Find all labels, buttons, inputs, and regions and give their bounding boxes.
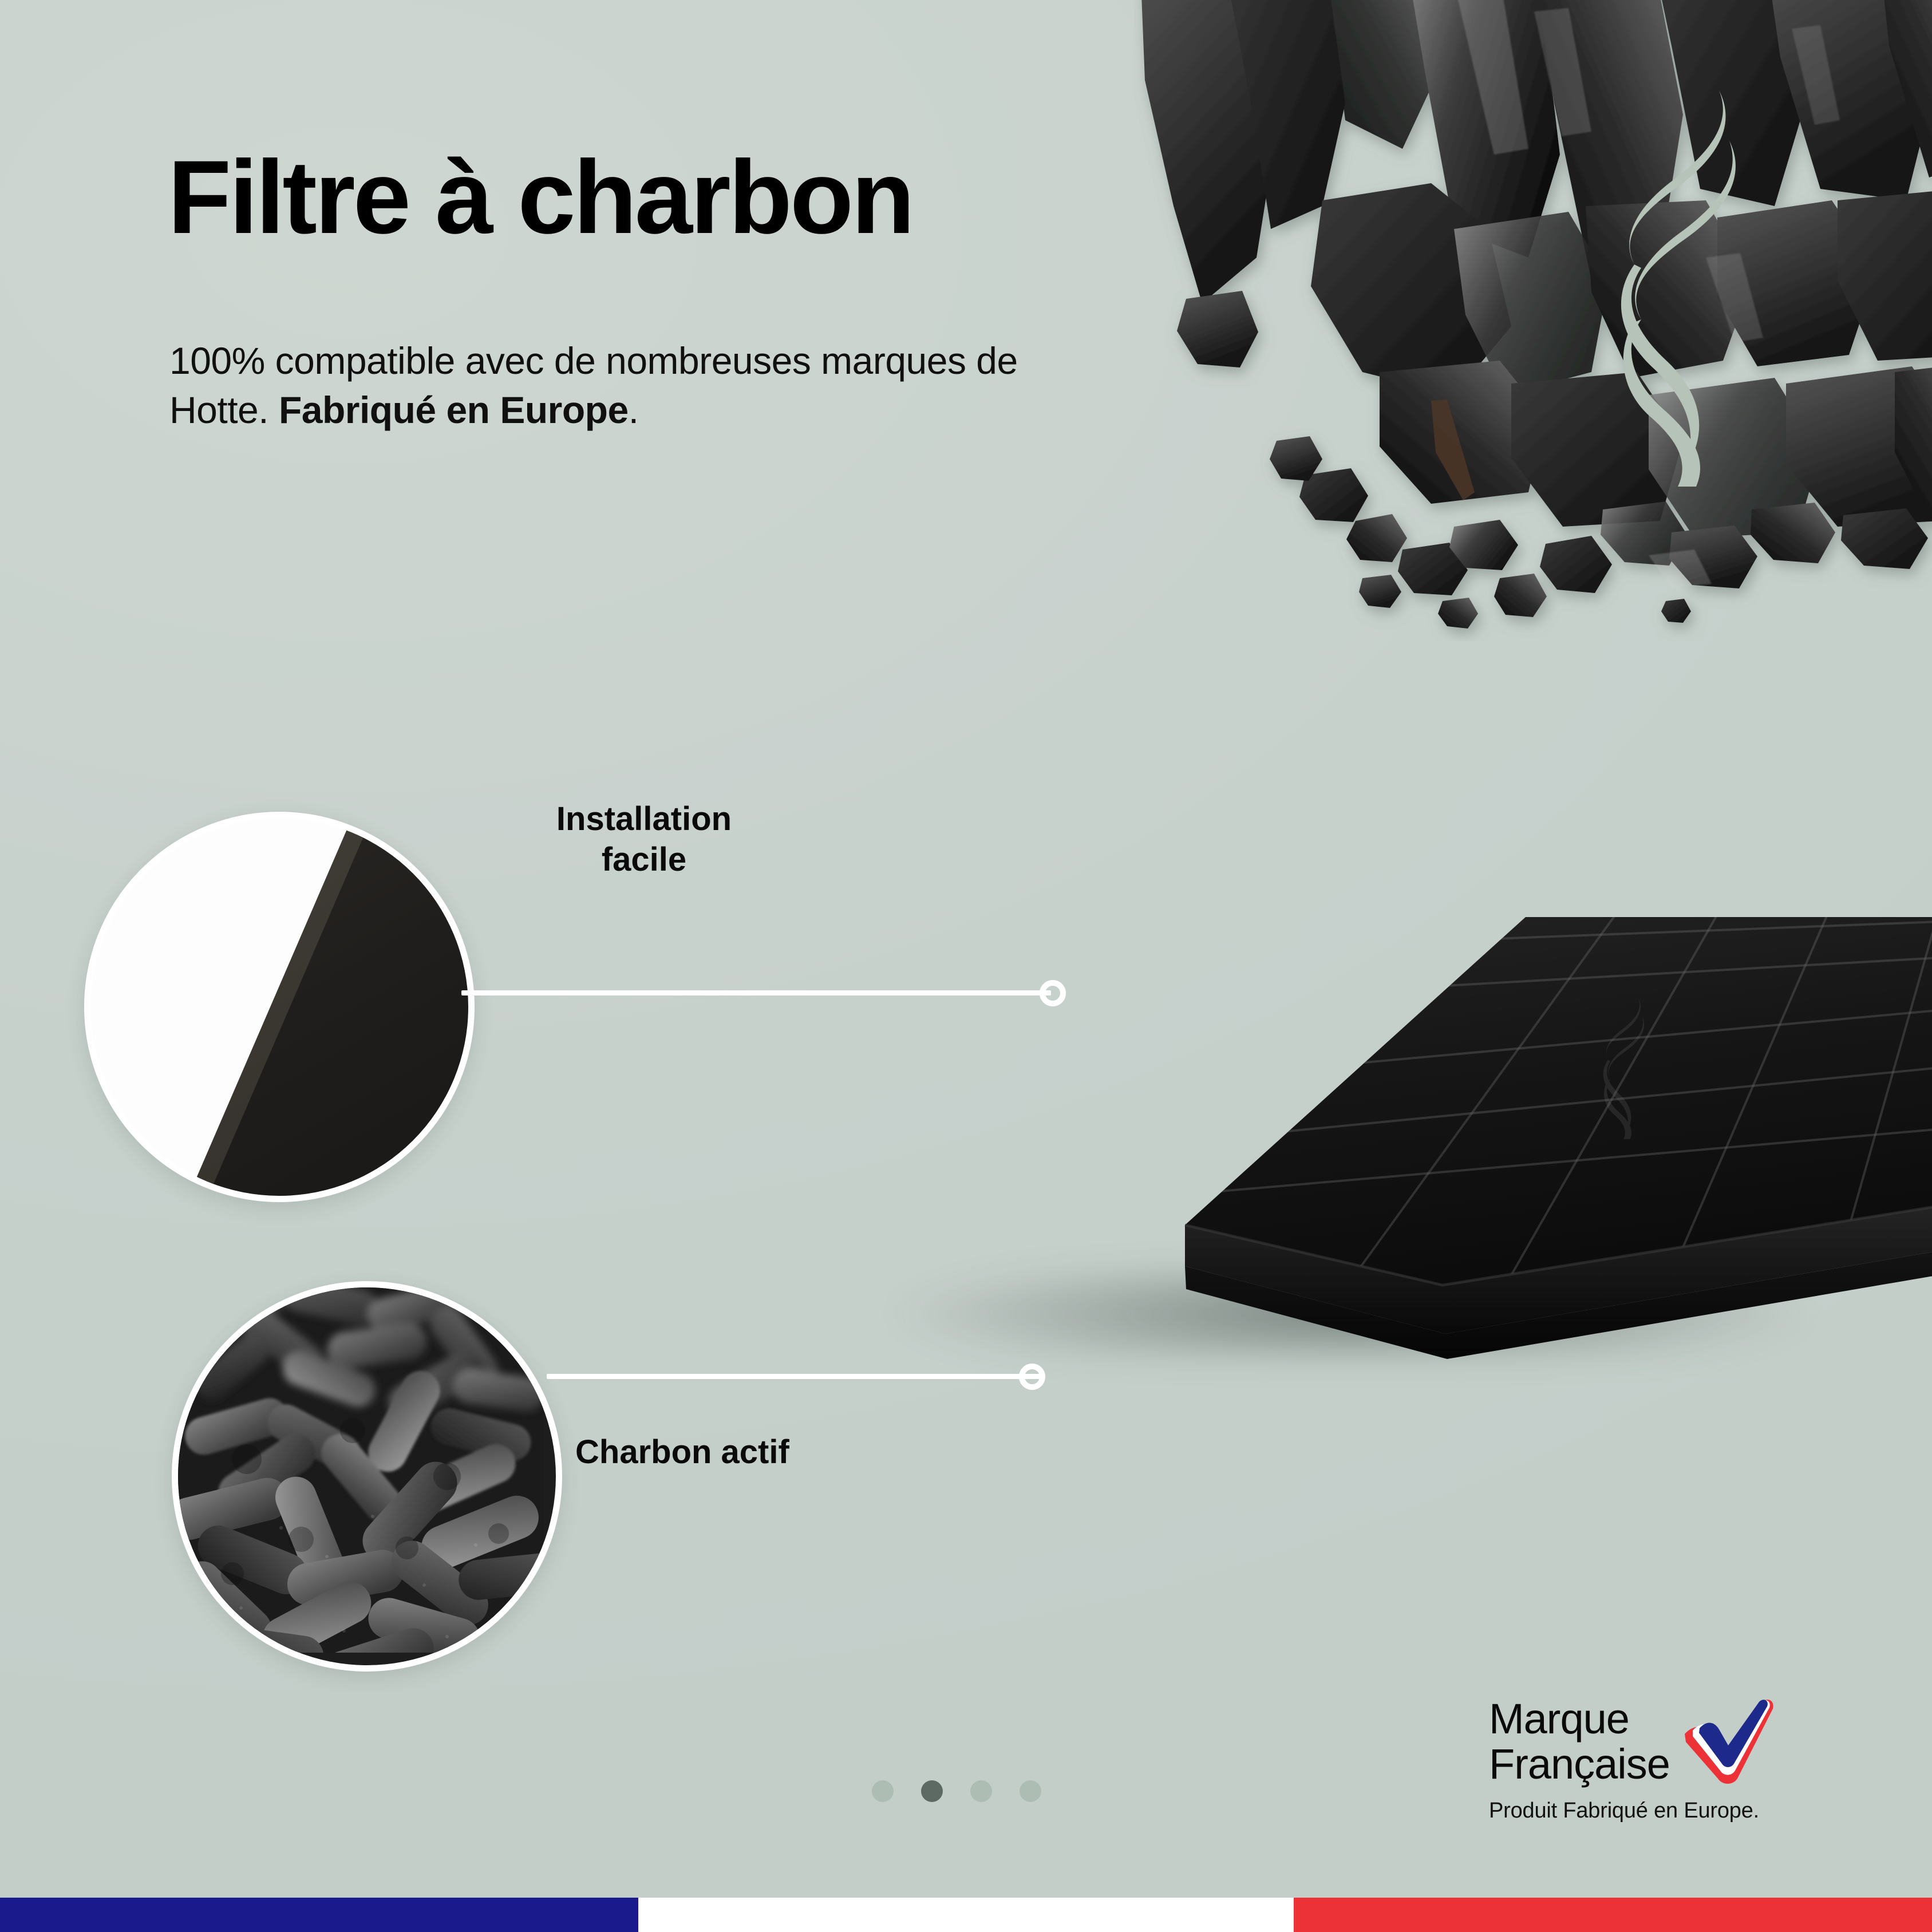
callout-leader-line-1 <box>461 990 1051 995</box>
callout-label-charbon-actif: Charbon actif <box>575 1432 789 1472</box>
page-subtitle: 100% compatible avec de nombreuses marqu… <box>169 337 1028 435</box>
subtitle-text-2: . <box>629 389 639 431</box>
callout-endpoint-ring-2 <box>1019 1364 1045 1390</box>
carousel-dot-2[interactable] <box>921 1780 943 1802</box>
carbon-filter-panel-image <box>790 767 1932 1443</box>
subtitle-emphasis: Fabriqué en Europe <box>279 389 629 431</box>
badge-title: Marque Française <box>1489 1697 1670 1787</box>
callout-image-installation <box>84 812 475 1202</box>
callout-label-installation-line2: facile <box>484 840 804 880</box>
callout-endpoint-ring-1 <box>1040 980 1066 1006</box>
callout-leader-line-2 <box>547 1374 1045 1379</box>
callout-image-charbon-actif <box>172 1281 562 1672</box>
product-marketing-slide: Filtre à charbon 100% compatible avec de… <box>0 0 1932 1932</box>
tricolor-check-icon <box>1680 1698 1776 1788</box>
callout-label-installation: Installation facile <box>484 799 804 880</box>
tricolor-red-stripe <box>1294 1898 1932 1932</box>
page-title: Filtre à charbon <box>168 144 1255 251</box>
marque-francaise-badge: Marque Française Produit Fabriqué en Eur… <box>1489 1695 1776 1823</box>
footer-tricolor-bar <box>0 1898 1932 1932</box>
carousel-dot-3[interactable] <box>970 1780 992 1802</box>
carousel-dot-1[interactable] <box>872 1780 894 1802</box>
carousel-dot-4[interactable] <box>1020 1780 1041 1802</box>
callout-label-installation-line1: Installation <box>484 799 804 840</box>
tricolor-white-stripe <box>638 1898 1294 1932</box>
badge-subtitle: Produit Fabriqué en Europe. <box>1489 1799 1776 1823</box>
badge-title-line2: Française <box>1489 1742 1670 1787</box>
tricolor-blue-stripe <box>0 1898 638 1932</box>
carousel-dots[interactable] <box>872 1780 1041 1802</box>
badge-title-line1: Marque <box>1489 1697 1670 1741</box>
charcoal-hero-image <box>1133 0 1932 641</box>
